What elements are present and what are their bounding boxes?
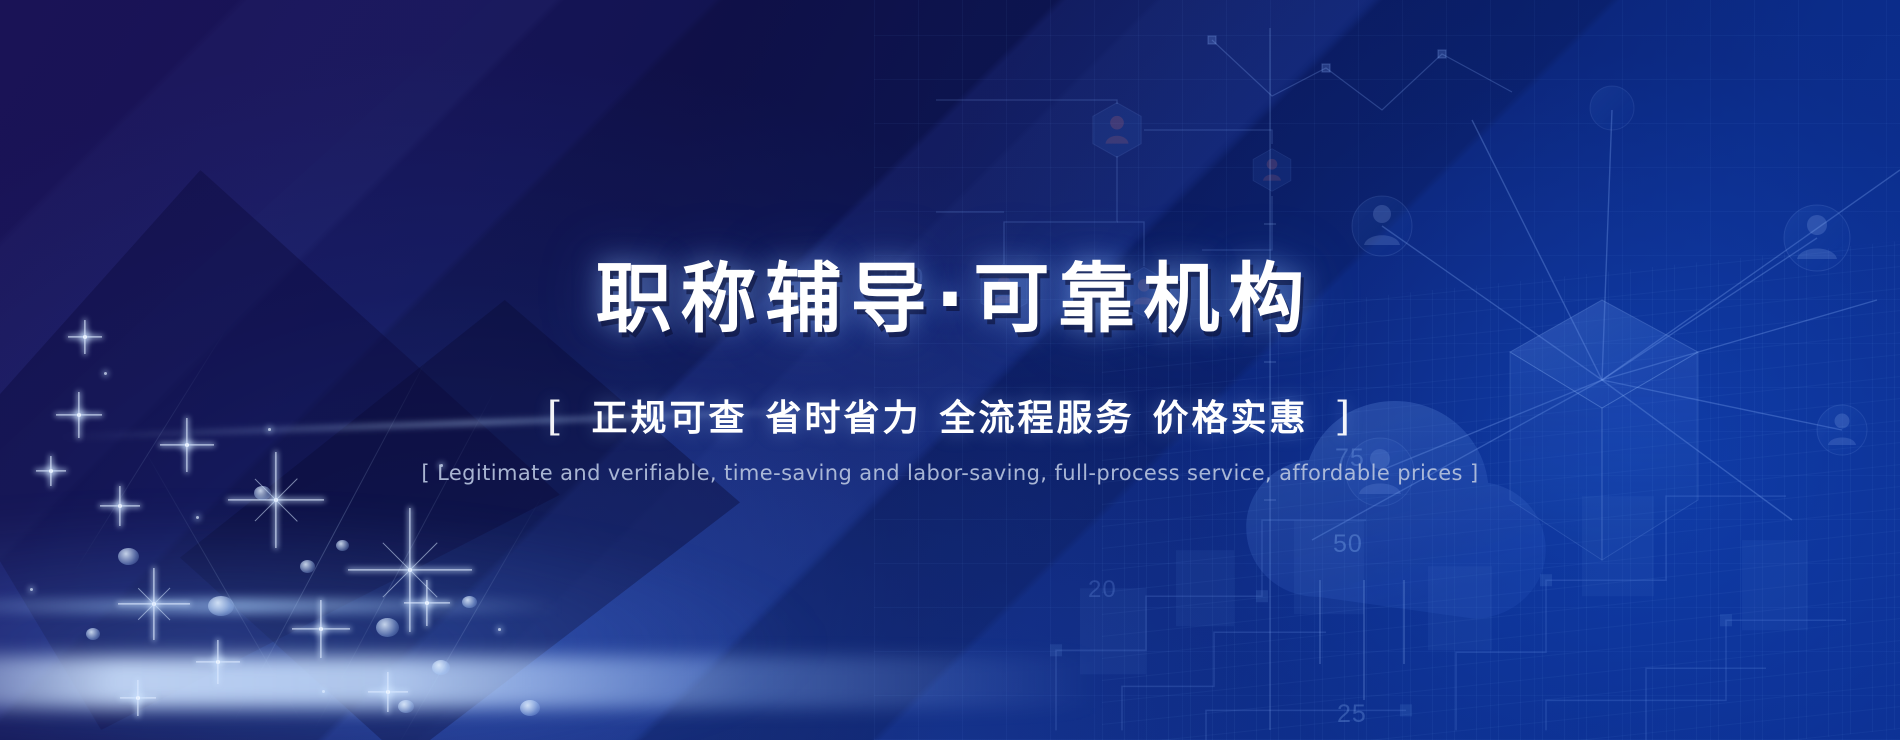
hero-banner: 100 20 50 75 25 职称辅导·可靠机构 [正规可查 [0,0,1900,740]
subtitle-feature-list: [正规可查省时省力全流程服务价格实惠] [547,389,1353,441]
subtitle-item-1: 省时省力 [765,397,921,439]
banner-content: 职称辅导·可靠机构 [正规可查省时省力全流程服务价格实惠] [ Legitima… [0,0,1900,740]
subtitle-item-0: 正规可查 [591,397,747,439]
page-title: 职称辅导·可靠机构 [587,255,1314,337]
english-tagline: [ Legitimate and verifiable, time-saving… [421,461,1478,485]
subtitle-close-bracket: ] [1335,394,1354,440]
subtitle-item-3: 价格实惠 [1153,397,1309,439]
subtitle-item-2: 全流程服务 [940,397,1135,439]
subtitle-open-bracket: [ [547,394,566,440]
